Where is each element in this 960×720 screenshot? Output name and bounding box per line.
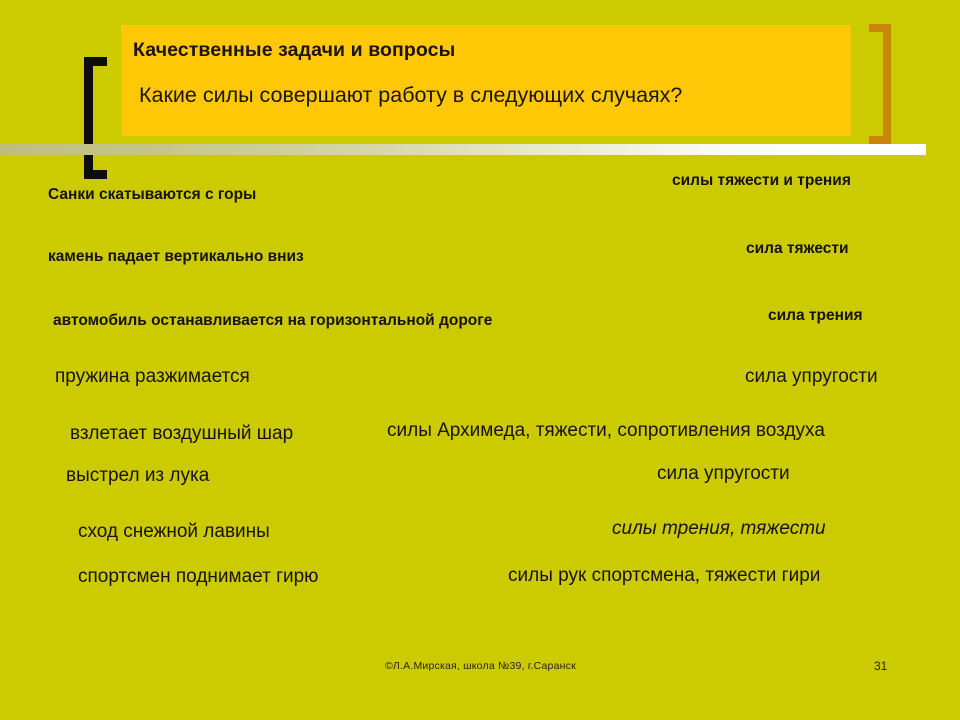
title-box: Качественные задачи и вопросы Какие силы… [121, 25, 851, 136]
answer-text: сила трения [768, 307, 863, 325]
slide-subtitle: Какие силы совершают работу в следующих … [139, 83, 851, 109]
question-text: камень падает вертикально вниз [48, 248, 304, 266]
answer-text: сила тяжести [746, 240, 849, 258]
question-text: спортсмен поднимает гирю [78, 566, 318, 588]
question-text: взлетает воздушный шар [70, 423, 293, 445]
answer-text: сила упругости [657, 463, 790, 485]
right-bracket-decoration [869, 24, 891, 144]
slide-title: Качественные задачи и вопросы [133, 39, 851, 62]
answer-text: силы рук спортсмена, тяжести гири [508, 565, 820, 587]
answer-text: сила упругости [745, 366, 878, 388]
footer-credit: ©Л.А.Мирская, школа №39, г.Саранск [385, 660, 576, 672]
question-text: сход снежной лавины [78, 521, 270, 543]
footer-page-number: 31 [874, 659, 887, 673]
slide-canvas: Качественные задачи и вопросы Какие силы… [0, 0, 960, 720]
answer-text: силы тяжести и трения [672, 172, 851, 190]
answer-text: силы Архимеда, тяжести, сопротивления во… [387, 420, 825, 442]
question-text: выстрел из лука [66, 465, 209, 487]
header-divider [0, 144, 926, 155]
question-text: Санки скатываются с горы [48, 186, 256, 204]
question-text: пружина разжимается [55, 366, 250, 388]
left-bracket-decoration [84, 57, 107, 179]
answer-text: силы трения, тяжести [612, 518, 826, 540]
question-text: автомобиль останавливается на горизонтал… [53, 312, 492, 330]
